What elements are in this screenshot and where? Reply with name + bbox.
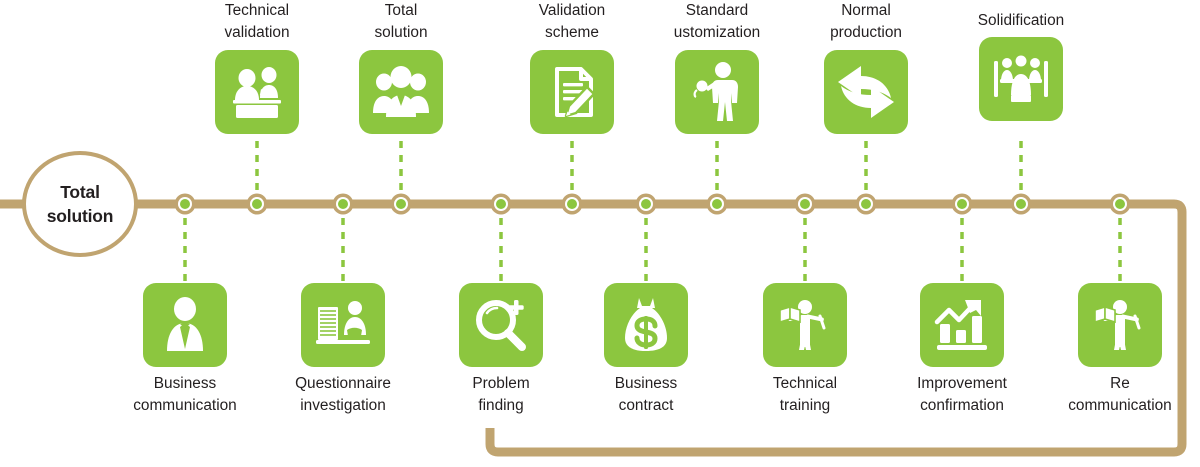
timeline-marker-core-11[interactable] (957, 199, 967, 209)
node-label: Improvement confirmation (887, 373, 1037, 418)
node-business-communication[interactable]: Business communication (110, 283, 260, 418)
timeline-marker-core-3[interactable] (338, 199, 348, 209)
timeline-marker-core-8[interactable] (712, 199, 722, 209)
timeline-diagram: Total solution Technical validation Tota… (0, 0, 1200, 467)
people-group-icon (359, 50, 443, 134)
timeline-marker-core-6[interactable] (567, 199, 577, 209)
node-technical-training[interactable]: Technical training (730, 283, 880, 418)
hub-label-line2: solution (47, 204, 113, 228)
node-re-communication[interactable]: Re communication (1045, 283, 1195, 418)
timeline-marker-core-1[interactable] (180, 199, 190, 209)
magnifier-plus-icon (459, 283, 543, 367)
node-label: Problem finding (426, 373, 576, 418)
node-solidification[interactable]: Solidification (946, 10, 1096, 121)
meeting-table-icon (215, 50, 299, 134)
node-label: Re communication (1045, 373, 1195, 418)
person-microphone-icon (675, 50, 759, 134)
node-label: Technical training (730, 373, 880, 418)
team-table-icon (979, 37, 1063, 121)
node-problem-finding[interactable]: Problem finding (426, 283, 576, 418)
trainer-book-pointer-icon (763, 283, 847, 367)
node-label: Technical validation (182, 0, 332, 45)
node-label: Solidification (946, 10, 1096, 32)
timeline-marker-core-5[interactable] (496, 199, 506, 209)
node-business-contract[interactable]: Business contract (571, 283, 721, 418)
node-label: Standard ustomization (642, 0, 792, 45)
timeline-marker-core-9[interactable] (800, 199, 810, 209)
node-label: Normal production (791, 0, 941, 45)
trainer-book-pointer-icon (1078, 283, 1162, 367)
hub-label-line1: Total (60, 180, 100, 204)
timeline-marker-core-12[interactable] (1016, 199, 1026, 209)
timeline-marker-core-2[interactable] (252, 199, 262, 209)
node-technical-validation[interactable]: Technical validation (182, 0, 332, 134)
timeline-marker-core-10[interactable] (861, 199, 871, 209)
document-pen-icon (530, 50, 614, 134)
node-improvement-confirmation[interactable]: Improvement confirmation (887, 283, 1037, 418)
node-label: Total solution (326, 0, 476, 45)
node-label: Business communication (110, 373, 260, 418)
desk-survey-icon (301, 283, 385, 367)
timeline-marker-core-13[interactable] (1115, 199, 1125, 209)
node-label: Questionnaire investigation (268, 373, 418, 418)
growth-chart-icon (920, 283, 1004, 367)
node-total-solution[interactable]: Total solution (326, 0, 476, 134)
money-bag-dollar-icon (604, 283, 688, 367)
node-label: Validation scheme (497, 0, 647, 45)
connector-group-bottom (185, 204, 1120, 283)
timeline-marker-core-4[interactable] (396, 199, 406, 209)
node-label: Business contract (571, 373, 721, 418)
hub-total-solution: Total solution (22, 151, 138, 257)
businessperson-tie-icon (143, 283, 227, 367)
node-normal-production[interactable]: Normal production (791, 0, 941, 134)
node-validation-scheme[interactable]: Validation scheme (497, 0, 647, 134)
connector-group-top (257, 139, 1021, 204)
node-questionnaire-investigation[interactable]: Questionnaire investigation (268, 283, 418, 418)
node-standard-ustomization[interactable]: Standard ustomization (642, 0, 792, 134)
two-way-arrows-icon (824, 50, 908, 134)
timeline-marker-core-7[interactable] (641, 199, 651, 209)
